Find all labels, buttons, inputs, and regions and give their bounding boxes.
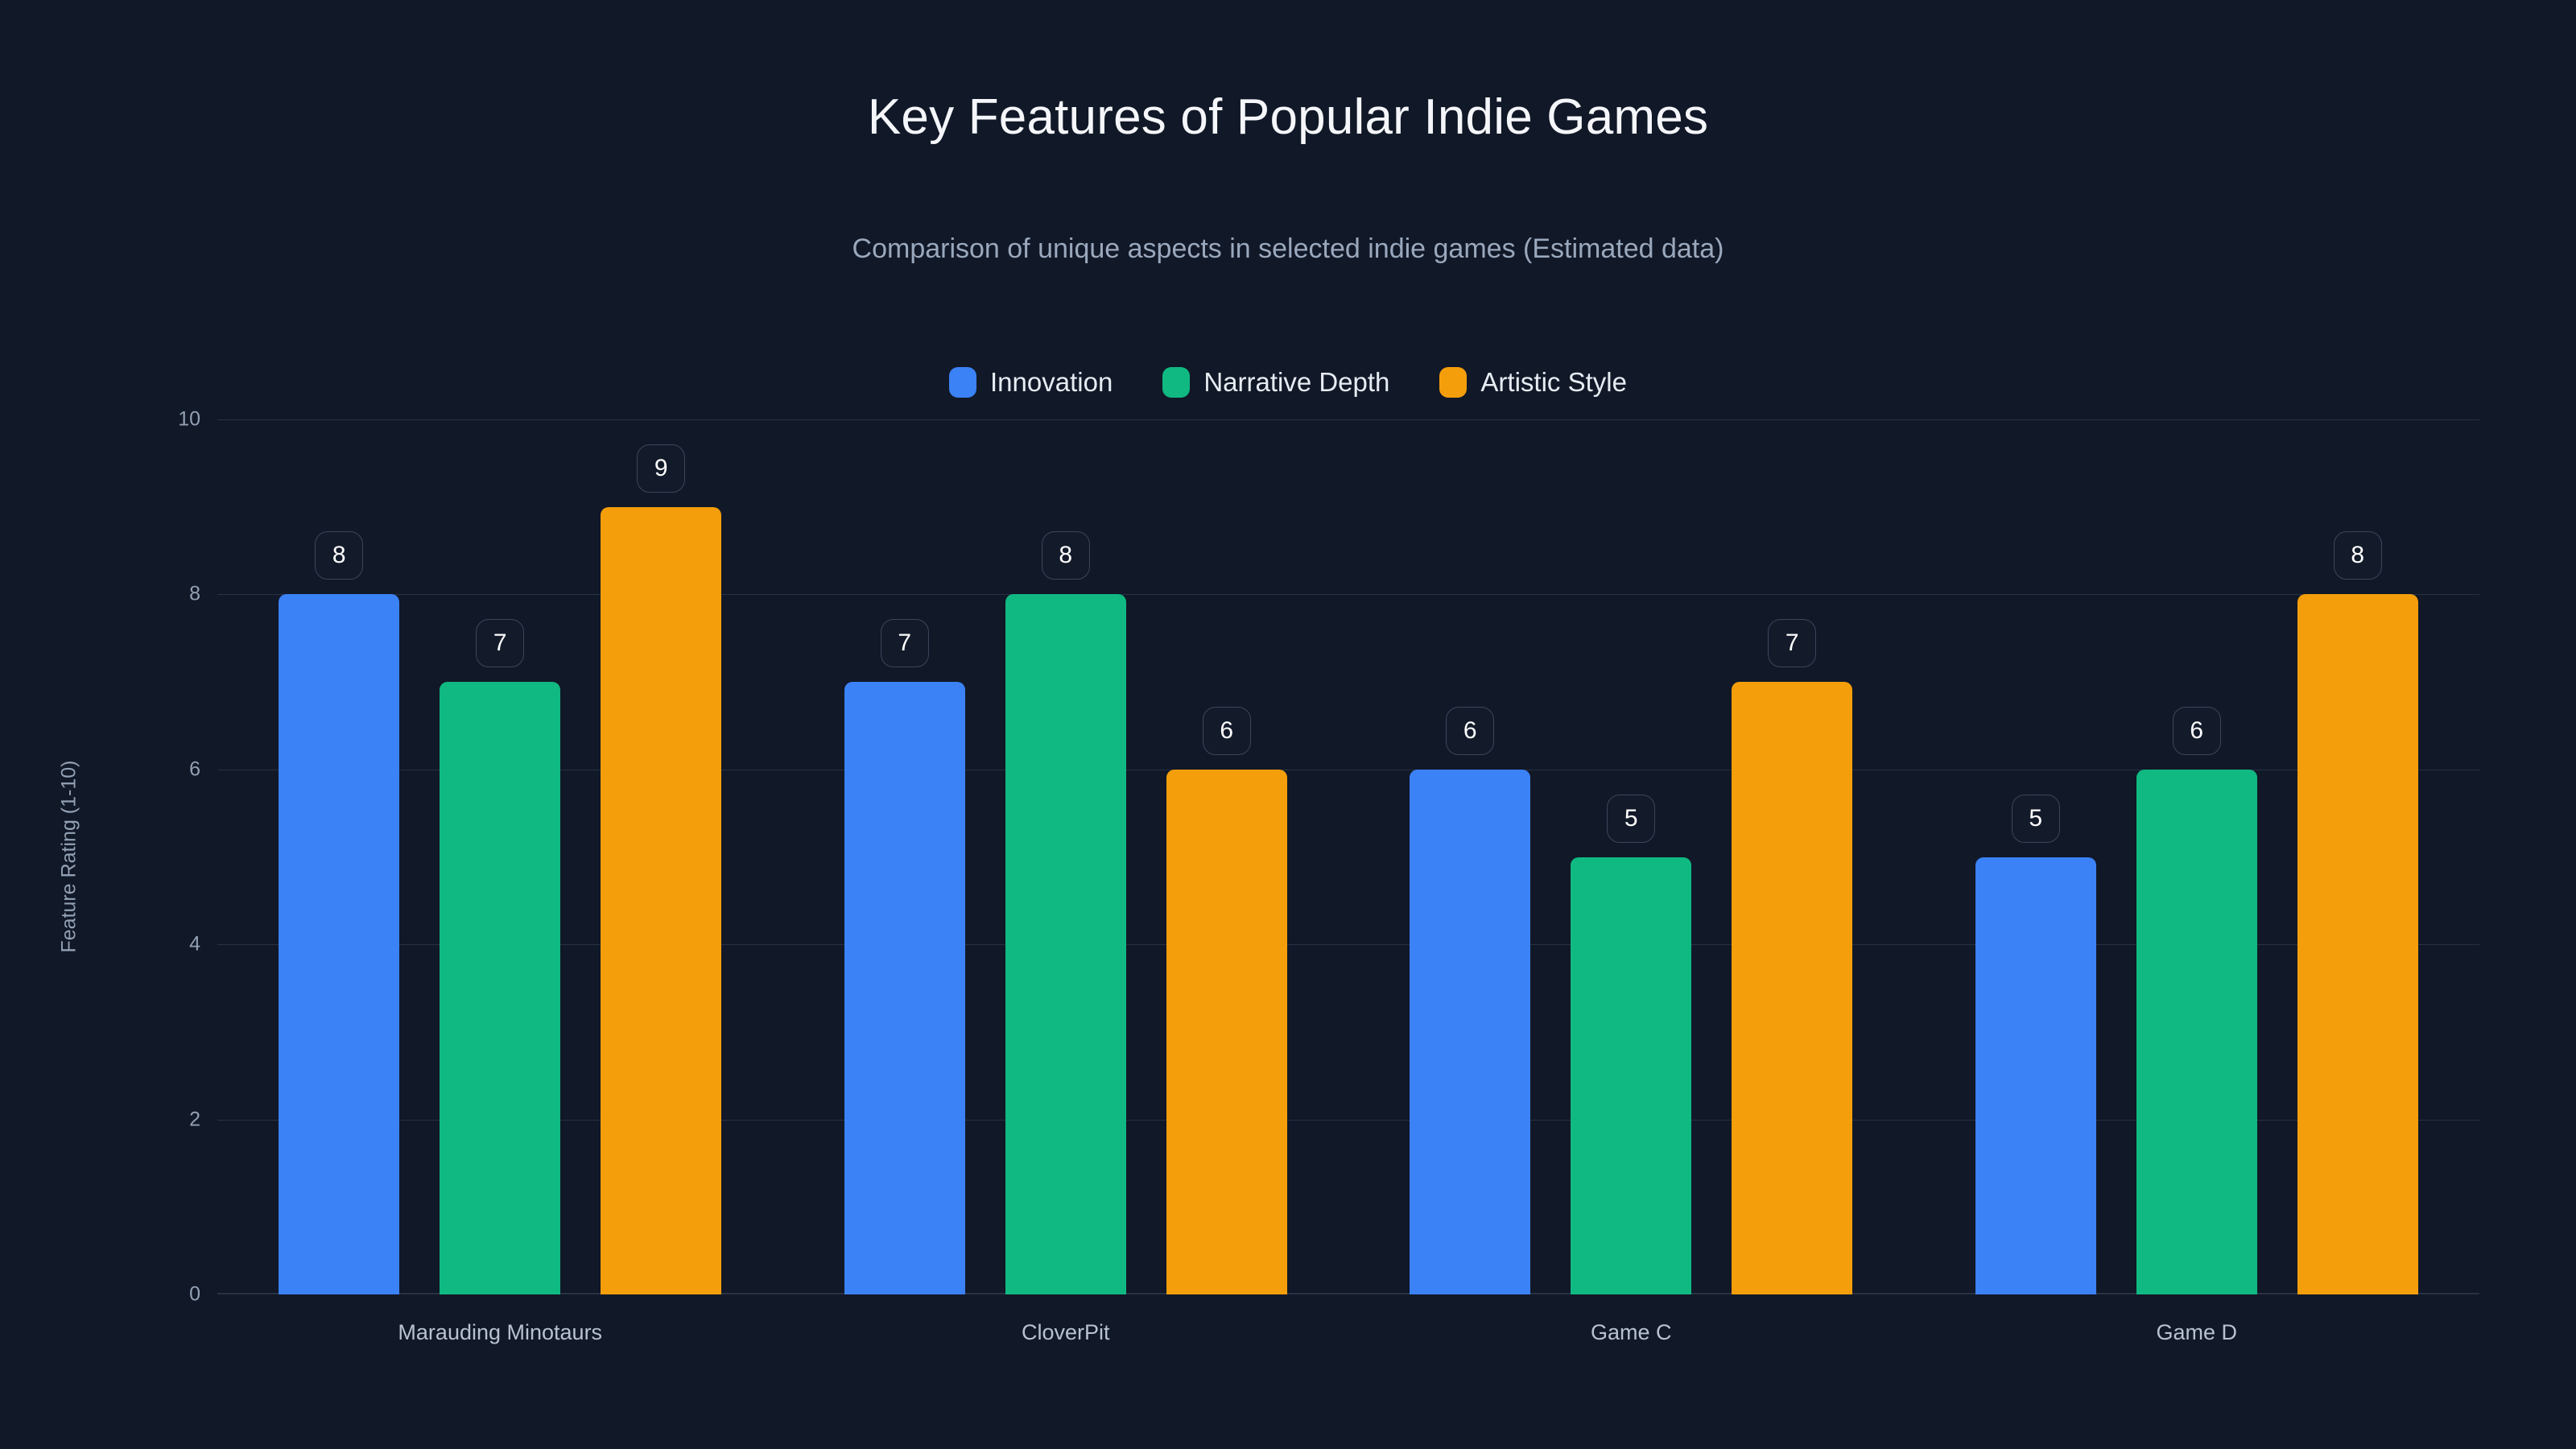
- y-tick-label: 4: [189, 933, 200, 956]
- bar-value-badge: 7: [881, 619, 929, 667]
- bar-value-badge: 5: [1607, 795, 1655, 843]
- bar-value-badge: 5: [2012, 795, 2060, 843]
- bar-value-badge: 7: [1768, 619, 1816, 667]
- plot-wrapper: Feature Rating (1-10) 0246810 8797866575…: [0, 0, 2576, 1449]
- y-tick-label: 2: [189, 1108, 200, 1131]
- bar-value-badge: 6: [2173, 707, 2221, 755]
- bar-value-badge: 6: [1203, 707, 1251, 755]
- bar[interactable]: [1166, 770, 1287, 1294]
- y-tick-label: 6: [189, 758, 200, 781]
- x-tick-label: CloverPit: [1022, 1320, 1110, 1345]
- y-axis-ticks: 0246810: [129, 419, 203, 1294]
- chart-page: Key Features of Popular Indie Games Comp…: [0, 0, 2576, 1449]
- bar-value-badge: 8: [2334, 531, 2382, 580]
- bar[interactable]: [1732, 682, 1852, 1294]
- bar-value-badge: 9: [637, 444, 685, 493]
- x-tick-label: Game C: [1591, 1320, 1672, 1345]
- y-tick-label: 10: [178, 408, 200, 431]
- bar[interactable]: [2297, 594, 2418, 1294]
- bar[interactable]: [844, 682, 965, 1294]
- bar-value-badge: 7: [476, 619, 524, 667]
- y-tick-label: 8: [189, 583, 200, 606]
- plot-area: 879786657568: [217, 419, 2479, 1294]
- bar[interactable]: [1410, 770, 1530, 1294]
- bar[interactable]: [1975, 857, 2096, 1295]
- bar[interactable]: [1005, 594, 1126, 1294]
- bar-value-badge: 8: [1042, 531, 1090, 580]
- bar[interactable]: [440, 682, 560, 1294]
- bar-value-badge: 8: [315, 531, 363, 580]
- x-tick-label: Game D: [2156, 1320, 2237, 1345]
- y-tick-label: 0: [189, 1283, 200, 1307]
- bar[interactable]: [279, 594, 399, 1294]
- x-tick-label: Marauding Minotaurs: [398, 1320, 602, 1345]
- gridline: [217, 594, 2479, 595]
- gridline: [217, 419, 2479, 420]
- y-axis-title: Feature Rating (1-10): [58, 760, 81, 952]
- bar[interactable]: [2136, 770, 2257, 1294]
- bar-value-badge: 6: [1446, 707, 1494, 755]
- bar[interactable]: [1571, 857, 1691, 1295]
- bar[interactable]: [601, 507, 721, 1294]
